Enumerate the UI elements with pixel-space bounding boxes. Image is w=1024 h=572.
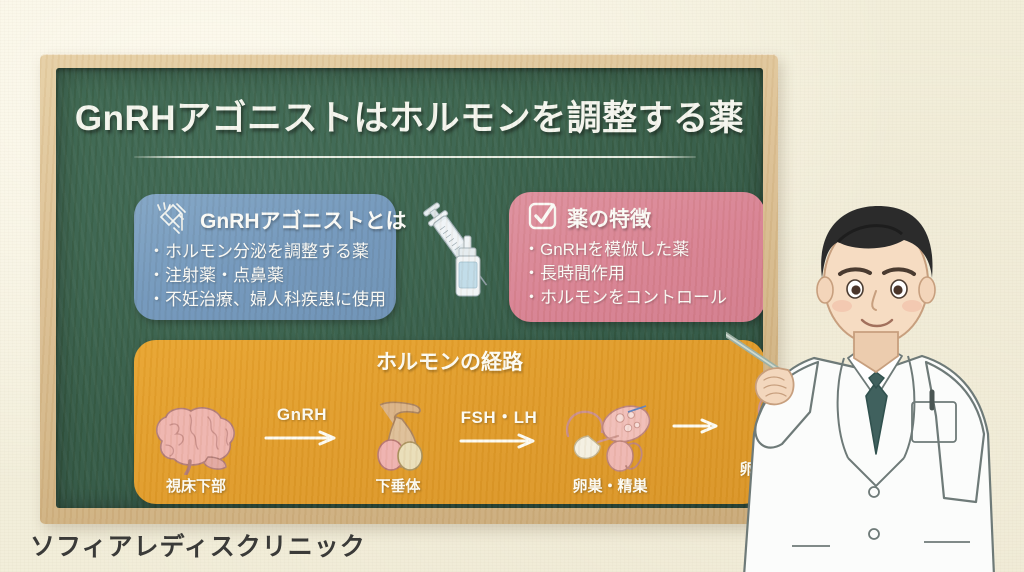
list-item: ホルモン分泌を調整する薬 [148,240,382,264]
pointer-stick-icon [726,304,788,376]
ovary-testis-illustration [558,399,662,477]
chalkboard-surface: GnRHアゴニストはホルモンを調整する薬 [56,68,763,508]
doctor-illustration [726,186,1024,572]
flow-label: 視床下部 [166,479,226,496]
arrow-right-icon [457,432,541,450]
card-title: 薬の特徴 [567,203,651,233]
arrow-right-icon [671,417,723,435]
flow-node-hypothalamus: 視床下部 [140,374,252,500]
flow-arrow-gnrh: GnRH [252,374,352,500]
card-bullet-list: ホルモン分泌を調整する薬 注射薬・点鼻薬 不妊治療、婦人科疾患に使用 [148,240,382,312]
flow-label: 下垂体 [375,479,420,496]
syringe-and-spray-illustration [408,194,506,322]
flow-node-pituitary: 下垂体 [352,374,444,500]
arrow-right-icon [262,429,342,447]
pituitary-gland-illustration [358,399,438,477]
chalkboard-frame: GnRHアゴニストはホルモンを調整する薬 [40,54,778,524]
title-underline [134,156,696,158]
arrow-label: FSH・LH [461,403,538,428]
card-header: GnRHアゴニストとは [148,202,382,238]
flow-arrow-fsh-lh: FSH・LH [444,374,554,500]
pathway-flow: 視床下部 GnRH [140,374,759,500]
list-item: GnRHを模倣した薬 [523,238,751,262]
doctor-head [817,206,935,372]
flow-arrow-result [666,374,728,500]
card-bullet-list: GnRHを模倣した薬 長時間作用 ホルモンをコントロール [523,238,751,310]
panel-title: ホルモンの経路 [134,340,763,376]
arrow-label: GnRH [277,405,327,425]
card-header: 薬の特徴 [523,200,751,236]
list-item: 不妊治療、婦人科疾患に使用 [148,288,382,312]
brain-illustration [146,399,246,477]
syringe-icon [152,201,192,240]
list-item: 長時間作用 [523,262,751,286]
flow-node-ovary-testis: 卵巣・精巣 [554,374,666,500]
doctor-body [744,348,994,572]
card-drug-characteristics: 薬の特徴 GnRHを模倣した薬 長時間作用 ホルモンをコントロール [509,192,763,322]
flow-label: 卵巣・精巣 [572,479,647,496]
panel-hormone-pathway: ホルモンの経路 [134,340,763,504]
list-item: ホルモンをコントロール [523,286,751,310]
card-gnrh-agonist-definition: GnRHアゴニストとは ホルモン分泌を調整する薬 注射薬・点鼻薬 不妊治療、婦人… [134,194,396,320]
checkbox-check-icon [527,200,559,237]
list-item: 注射薬・点鼻薬 [148,264,382,288]
page-title: GnRHアゴニストはホルモンを調整する薬 [56,90,763,141]
card-title: GnRHアゴニストとは [200,205,407,235]
clinic-name-caption: ソフィアレディスクリニック [30,527,366,563]
